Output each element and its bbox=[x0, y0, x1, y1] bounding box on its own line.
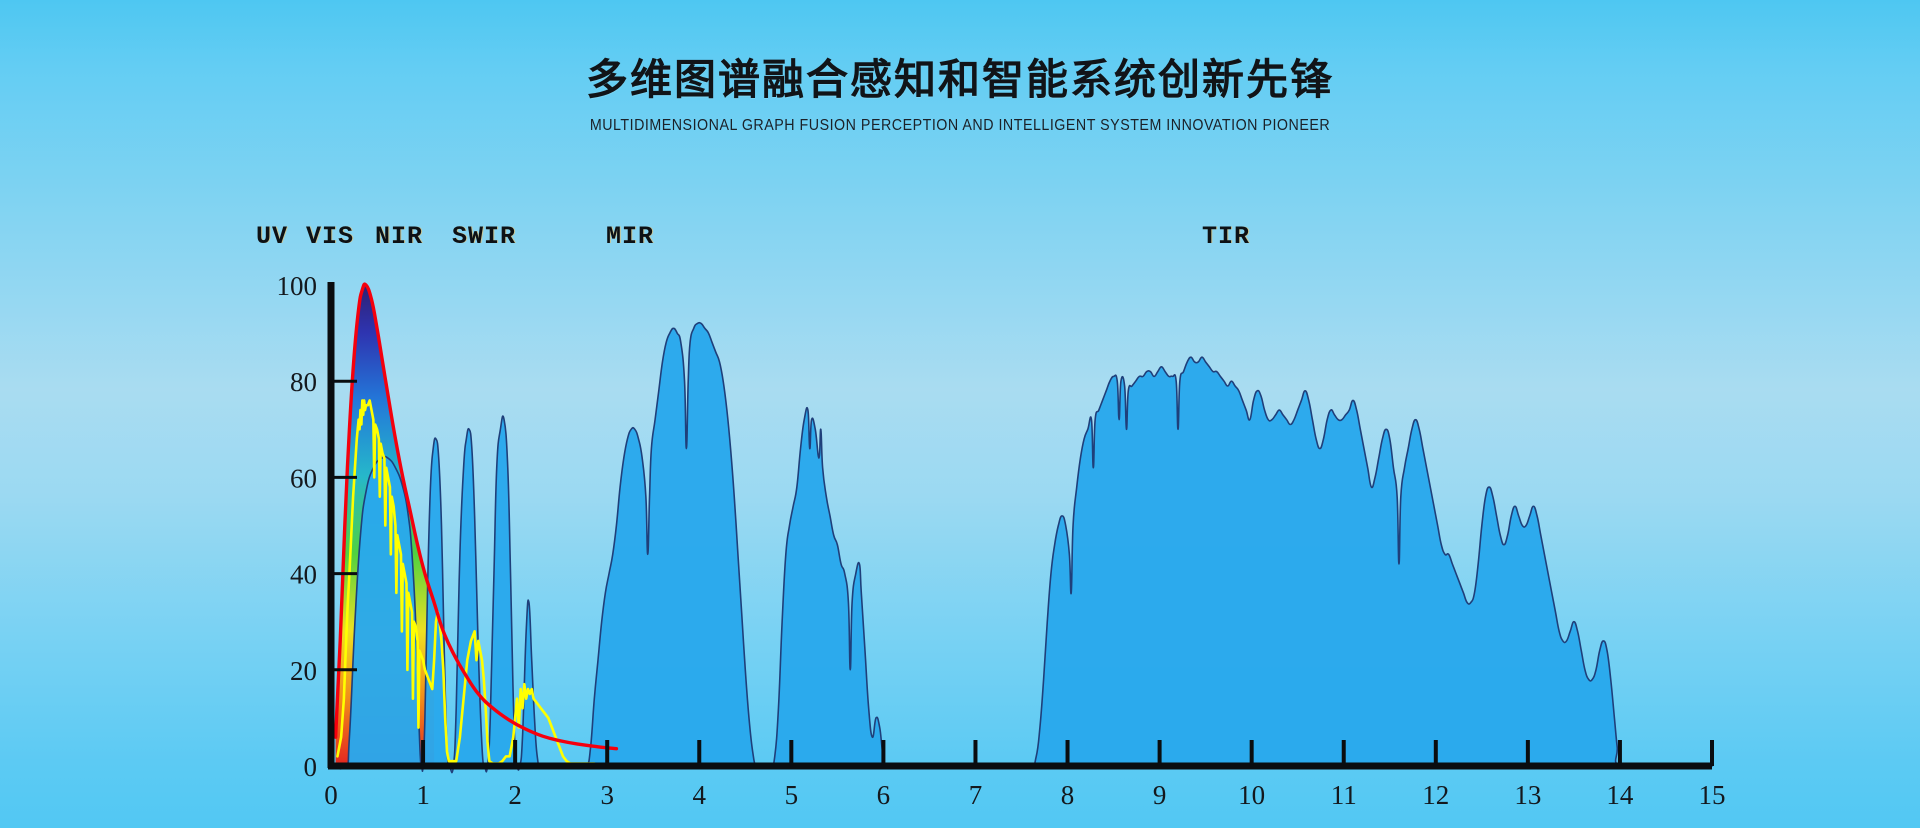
y-axis-tick-label: 0 bbox=[304, 752, 318, 782]
y-axis-tick-label: 100 bbox=[277, 271, 318, 301]
x-axis-tick-label: 0 bbox=[324, 780, 338, 810]
spectrum-chart: 020406080100 0123456789101112131415 bbox=[0, 0, 1920, 828]
y-axis-tick-label: 40 bbox=[290, 560, 317, 590]
x-axis-tick-label: 12 bbox=[1422, 780, 1449, 810]
x-axis-tick-label: 7 bbox=[969, 780, 983, 810]
x-axis-tick-label: 3 bbox=[600, 780, 614, 810]
x-axis-tick-label: 11 bbox=[1331, 780, 1357, 810]
x-axis-tick-label: 5 bbox=[785, 780, 799, 810]
x-axis-tick-label: 10 bbox=[1238, 780, 1265, 810]
x-axis-tick-label: 14 bbox=[1606, 780, 1634, 810]
x-axis-tick-label: 4 bbox=[693, 780, 707, 810]
x-axis-tick-label: 1 bbox=[416, 780, 430, 810]
y-axis-tick-labels: 020406080100 bbox=[277, 271, 318, 782]
y-axis-tick-label: 60 bbox=[290, 463, 317, 493]
x-axis-tick-labels: 0123456789101112131415 bbox=[324, 780, 1725, 810]
x-axis-tick-label: 2 bbox=[508, 780, 522, 810]
x-axis-tick-label: 6 bbox=[877, 780, 891, 810]
poster-root: 多维图谱融合感知和智能系统创新先锋 MULTIDIMENSIONAL GRAPH… bbox=[0, 0, 1920, 828]
spectrum-chart-svg: 020406080100 0123456789101112131415 bbox=[0, 0, 1920, 828]
x-axis-tick-label: 15 bbox=[1699, 780, 1726, 810]
x-axis-tick-label: 13 bbox=[1514, 780, 1541, 810]
y-axis-tick-label: 80 bbox=[290, 367, 317, 397]
y-axis-tick-label: 20 bbox=[290, 656, 317, 686]
x-axis-tick-label: 9 bbox=[1153, 780, 1167, 810]
x-axis-tick-label: 8 bbox=[1061, 780, 1075, 810]
